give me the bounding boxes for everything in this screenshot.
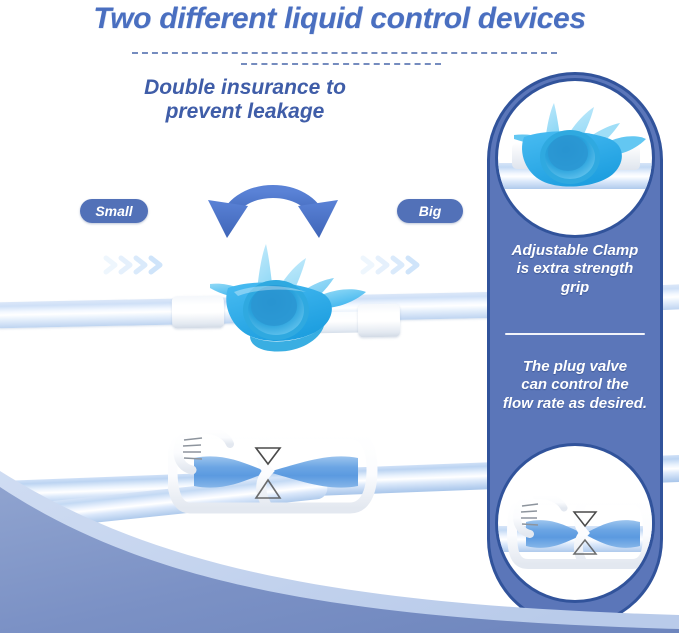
page-subtitle: Double insurance to prevent leakage	[60, 76, 430, 125]
badge-small[interactable]: Small	[80, 199, 148, 223]
divider-dashed-long	[132, 52, 557, 54]
panel-caption-valve-line-3: flow rate as desired.	[495, 395, 655, 413]
infographic-canvas: Two different liquid control devices Dou…	[0, 0, 679, 633]
plug-valve-body	[198, 240, 378, 360]
panel-caption-clamp: Adjustable Clamp is extra strength grip	[495, 242, 655, 297]
panel-caption-clamp-line-3: grip	[495, 279, 655, 297]
panel-caption-clamp-line-2: is extra strength	[495, 260, 655, 278]
panel-divider	[505, 333, 645, 335]
panel-caption-valve-line-1: The plug valve	[495, 358, 655, 376]
flow-chevrons-left-icon	[103, 250, 171, 280]
adjust-double-arrow-icon	[193, 160, 353, 240]
badge-big[interactable]: Big	[397, 199, 463, 223]
inset-adjustable-clamp	[495, 78, 655, 238]
subtitle-line-1: Double insurance to	[60, 76, 430, 100]
page-title: Two different liquid control devices	[0, 2, 679, 36]
panel-caption-valve-line-2: can control the	[495, 376, 655, 394]
divider-dashed-short	[241, 63, 441, 65]
panel-caption-clamp-line-1: Adjustable Clamp	[495, 242, 655, 260]
panel-caption-valve: The plug valve can control the flow rate…	[495, 358, 655, 413]
subtitle-line-2: prevent leakage	[60, 100, 430, 124]
footer-wave-decoration	[0, 443, 679, 633]
